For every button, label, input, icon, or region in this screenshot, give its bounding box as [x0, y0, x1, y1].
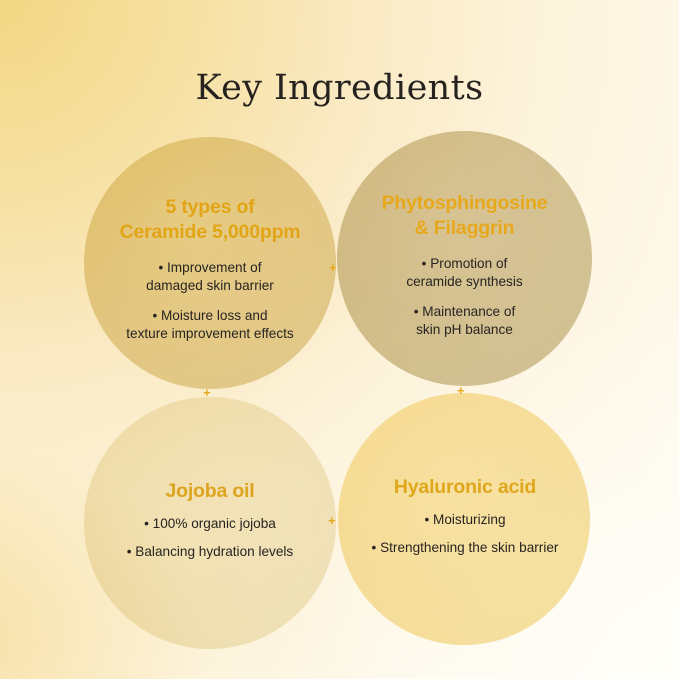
venn-circle-hyaluronic: [338, 393, 590, 645]
venn-circle-phytosphingosine: [337, 131, 592, 386]
page-title: Key Ingredients: [0, 68, 679, 108]
venn-circle-jojoba: [84, 397, 336, 649]
plus-icon-top: +: [329, 261, 337, 274]
plus-icon-right: +: [457, 384, 465, 397]
plus-icon-left: +: [203, 386, 211, 399]
venn-circle-ceramide: [84, 137, 336, 389]
plus-icon-bottom: +: [328, 514, 336, 527]
key-ingredients-infographic: Key Ingredients 5 types of Ceramide 5,00…: [0, 0, 679, 679]
